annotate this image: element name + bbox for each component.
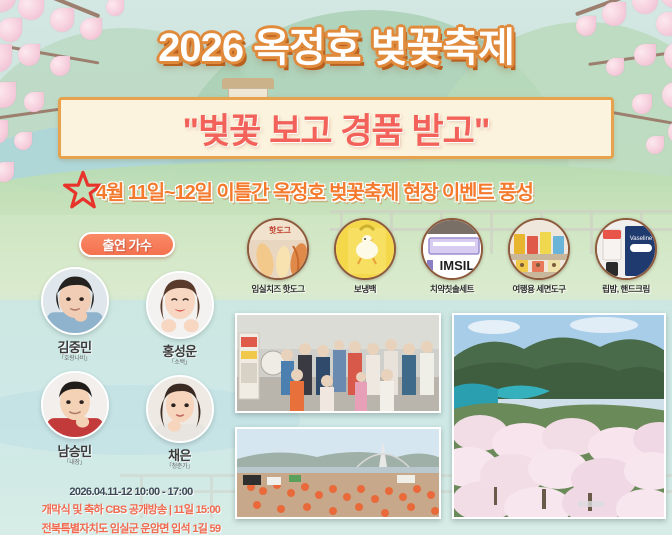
prize-label: 보냉백 (325, 283, 405, 295)
singer-card[interactable]: 남승민 「내장」 (22, 371, 127, 471)
singer-subtitle: 「호랑나비」 (22, 356, 127, 363)
prize-label: 립밤, 핸드크림 (586, 283, 666, 295)
info-broadcast: 개막식 및 축하 CBS 공개방송 | 11일 15:00 (16, 501, 246, 517)
singer-card[interactable]: 홍성운 「소백」 (127, 271, 232, 367)
singers-badge-label: 출연 가수 (103, 235, 152, 254)
headline-text: "벚꽃 보고 경품 받고" (183, 103, 490, 154)
prize-row: 핫도그 임실치즈 핫도그 (238, 218, 666, 306)
prize-label: 임실치즈 핫도그 (238, 283, 318, 295)
singer-card[interactable]: 채은 「청춘가」 (127, 375, 232, 471)
svg-text:핫도그: 핫도그 (269, 225, 292, 235)
singer-name: 남승민 (22, 441, 127, 460)
singer-subtitle: 「청춘가」 (127, 464, 232, 471)
cherry-blossom-lake-photo (452, 313, 666, 519)
festival-info: 2026.04.11-12 10:00 - 17:00 개막식 및 축하 CBS… (16, 486, 246, 535)
singer-name: 김중민 (22, 337, 127, 356)
info-datetime: 2026.04.11-12 10:00 - 17:00 (16, 486, 246, 498)
avatar (41, 267, 109, 335)
hotdog-package-icon: 핫도그 (247, 218, 309, 280)
headline-banner: "벚꽃 보고 경품 받고" (58, 97, 614, 159)
avatar (41, 371, 109, 439)
singers-panel: 출연 가수 (22, 232, 232, 470)
cooler-bag-icon (334, 218, 396, 280)
singers-grid: 김중민 「호랑나비」 (22, 267, 232, 470)
singer-card[interactable]: 김중민 「호랑나비」 (22, 267, 127, 367)
singer-subtitle: 「내장」 (22, 460, 127, 467)
travel-toiletry-icon (508, 218, 570, 280)
event-line-text: 4월 11일~12일 이틀간 옥정호 벚꽃축제 현장 이벤트 풍성 (96, 176, 533, 205)
info-address: 전북특별자치도 임실군 운암면 입석 1길 59 (16, 520, 246, 535)
singer-name: 채은 (127, 445, 232, 464)
prize-item[interactable]: Vaseline 립밤, 핸드크림 (586, 218, 666, 306)
festival-aerial-photo (235, 427, 441, 519)
prize-item[interactable]: 여행용 세면도구 (499, 218, 579, 306)
singer-name: 홍성운 (127, 341, 232, 360)
festival-crowd-photo (235, 313, 441, 413)
festival-poster: 2026 옥정호 벚꽃축제 "벚꽃 보고 경품 받고" 4월 11일~12일 이… (0, 0, 672, 535)
prize-label: 여행용 세면도구 (499, 283, 579, 295)
svg-text:IMSIL: IMSIL (440, 258, 475, 273)
singers-badge: 출연 가수 (79, 232, 175, 257)
prize-item[interactable]: 핫도그 임실치즈 핫도그 (238, 218, 318, 306)
toothpaste-set-icon: IMSIL (421, 218, 483, 280)
singer-subtitle: 「소백」 (127, 360, 232, 367)
event-line: 4월 11일~12일 이틀간 옥정호 벚꽃축제 현장 이벤트 풍성 (96, 175, 656, 205)
avatar (146, 375, 214, 443)
prize-item[interactable]: 보냉백 (325, 218, 405, 306)
lipbalm-handcream-icon: Vaseline (595, 218, 657, 280)
prize-label: 치약칫솔세트 (412, 283, 492, 295)
poster-title: 2026 옥정호 벚꽃축제 (0, 28, 672, 68)
svg-text:Vaseline: Vaseline (630, 236, 653, 242)
prize-item[interactable]: IMSIL 치약칫솔세트 (412, 218, 492, 306)
avatar (146, 271, 214, 339)
